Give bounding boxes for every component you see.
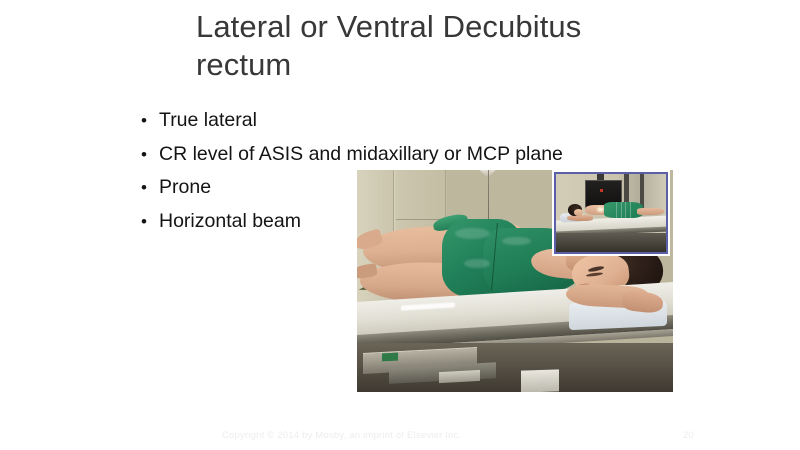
inset-gown-stripe xyxy=(625,202,626,218)
slide-canvas: Lateral or Ventral Decubitus rectum True… xyxy=(0,0,800,450)
bucky-indicator xyxy=(382,353,398,362)
inset-table-undercarriage xyxy=(556,233,666,252)
page-title: Lateral or Ventral Decubitus rectum xyxy=(196,8,666,84)
inset-receptor-indicator xyxy=(600,189,603,192)
table-base-panel xyxy=(439,370,480,383)
list-item: True lateral xyxy=(140,104,610,138)
inset-photo-frame xyxy=(554,172,668,254)
list-item: CR level of ASIS and midaxillary or MCP … xyxy=(140,138,610,172)
gown-fold-highlight xyxy=(464,259,489,268)
inset-gown-stripe xyxy=(630,202,631,218)
inset-gown-stripe xyxy=(621,202,622,218)
table-base-panel xyxy=(521,369,559,392)
inset-gown-stripe xyxy=(616,202,617,218)
inset-photo xyxy=(552,170,670,256)
inset-patient-leg xyxy=(637,208,663,216)
gown-fold-highlight xyxy=(455,228,490,239)
copyright-notice: Copyright © 2014 by Mosby, an imprint of… xyxy=(222,430,461,441)
page-number: 20 xyxy=(683,430,694,441)
